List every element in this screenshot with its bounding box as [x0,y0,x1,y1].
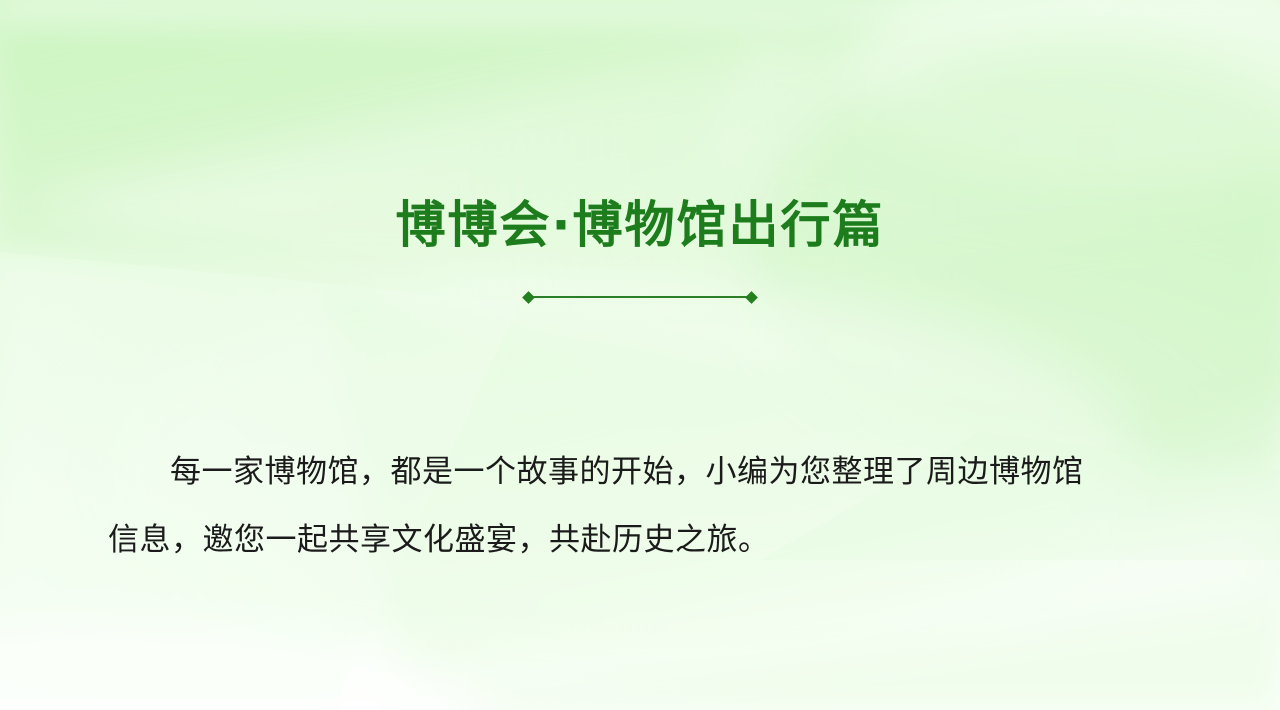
background-base-gradient [0,0,1280,710]
title-divider [524,289,756,305]
slide-canvas: 博博会·博物馆出行篇 每一家博物馆，都是一个故事的开始，小编为您整理了周边博物馆… [0,0,1280,710]
title-block: 博博会·博物馆出行篇 [0,196,1280,254]
body-line-2: 信息，邀您一起共享文化盛宴，共赴历史之旅。 [104,506,1184,574]
body-line-1: 每一家博物馆，都是一个故事的开始，小编为您整理了周边博物馆 [104,438,1184,506]
body-paragraph: 每一家博物馆，都是一个故事的开始，小编为您整理了周边博物馆 信息，邀您一起共享文… [104,438,1184,574]
divider-rule [532,296,748,298]
diamond-bullet-left-icon [522,291,535,304]
background-polygon-mesh [0,0,1280,710]
diamond-bullet-right-icon [745,291,758,304]
page-title: 博博会·博物馆出行篇 [0,196,1280,254]
